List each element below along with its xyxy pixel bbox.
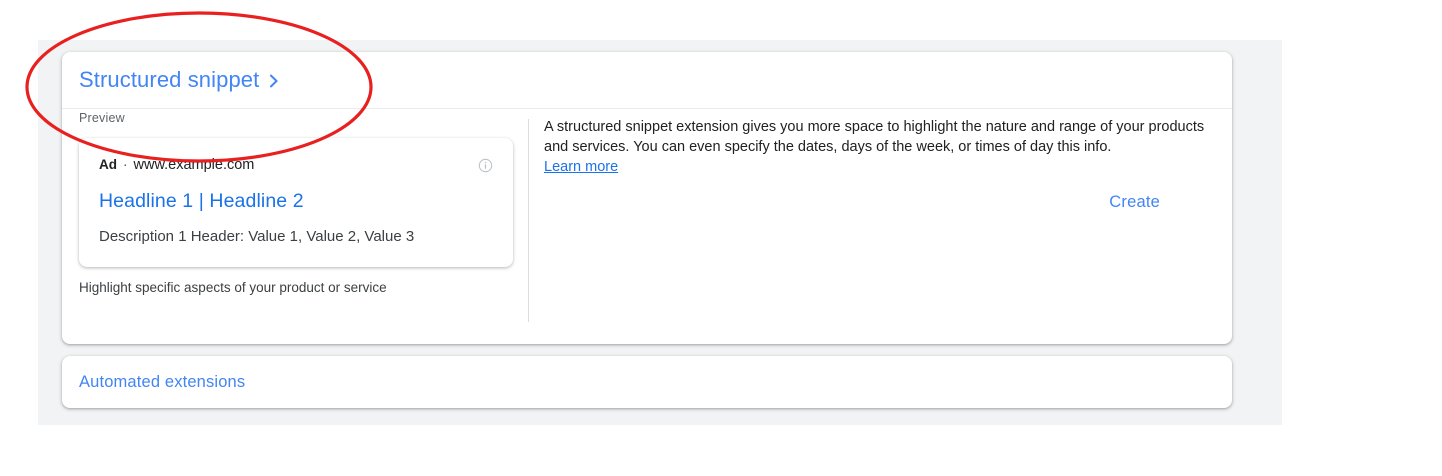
- structured-snippet-card: Structured snippet Preview Ad · www.exam…: [62, 52, 1232, 344]
- card-body: Preview Ad · www.example.com Headline 1 …: [62, 110, 1232, 344]
- ad-display-url: www.example.com: [134, 156, 255, 174]
- card-title-text: Structured snippet: [79, 67, 259, 93]
- structured-snippet-title-link[interactable]: Structured snippet: [79, 67, 281, 93]
- preview-label: Preview: [79, 110, 527, 126]
- card-header: Structured snippet: [62, 52, 1232, 109]
- learn-more-link[interactable]: Learn more: [544, 157, 618, 177]
- ad-headline[interactable]: Headline 1 | Headline 2: [99, 189, 493, 213]
- ad-description: Description 1 Header: Value 1, Value 2, …: [99, 227, 493, 247]
- automated-extensions-link[interactable]: Automated extensions: [79, 371, 245, 393]
- create-button[interactable]: Create: [1109, 193, 1160, 211]
- extension-description: A structured snippet extension gives you…: [544, 117, 1210, 177]
- column-divider: [528, 119, 529, 322]
- preview-column: Preview Ad · www.example.com Headline 1 …: [79, 110, 527, 297]
- ad-preview-url-row: Ad · www.example.com: [99, 156, 493, 174]
- create-row: Create: [544, 191, 1210, 213]
- chevron-right-icon: [267, 74, 281, 88]
- ad-badge: Ad: [99, 156, 117, 174]
- automated-extensions-inner: Automated extensions: [79, 356, 245, 408]
- extension-description-text: A structured snippet extension gives you…: [544, 119, 1204, 155]
- ad-preview-card: Ad · www.example.com Headline 1 | Headli…: [79, 138, 513, 267]
- automated-extensions-card: Automated extensions: [62, 356, 1232, 408]
- ad-url-separator: ·: [123, 156, 128, 174]
- info-circle-icon[interactable]: [478, 158, 493, 173]
- description-column: A structured snippet extension gives you…: [544, 117, 1210, 213]
- preview-caption: Highlight specific aspects of your produ…: [79, 279, 527, 297]
